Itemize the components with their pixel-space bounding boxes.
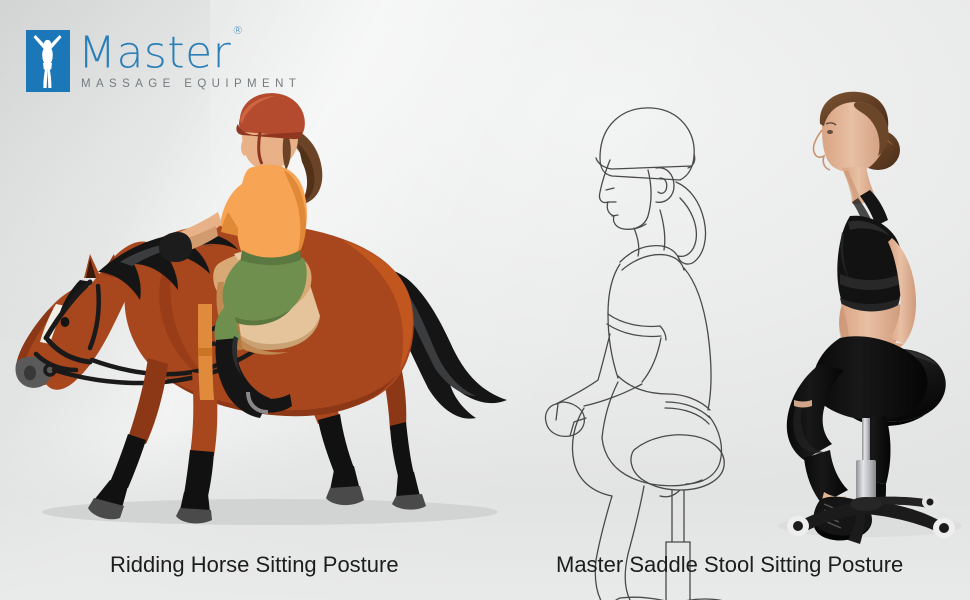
photo-model-on-saddle-stool [770, 88, 970, 548]
line-helmet [596, 108, 695, 180]
line-ponytail [676, 182, 706, 264]
line-sleeve [607, 314, 666, 340]
brand-logo: Master® MASSAGE EQUIPMENT [26, 28, 301, 92]
line-art-rider-on-stool [548, 98, 778, 518]
line-gas-cylinder [666, 490, 690, 600]
line-hips [602, 382, 722, 484]
line-torso [608, 264, 711, 410]
line-waistband [665, 394, 710, 424]
logo-wordmark-text: Master [78, 28, 231, 79]
line-arm [556, 334, 661, 406]
caption-right: Master Saddle Stool Sitting Posture [556, 552, 903, 578]
horse-rider-illustration [2, 92, 522, 532]
line-lower-leg [595, 486, 644, 600]
logo-text-block: Master® MASSAGE EQUIPMENT [78, 28, 301, 90]
logo-tagline: MASSAGE EQUIPMENT [81, 78, 301, 90]
registered-trademark-icon: ® [232, 24, 244, 37]
product-comparison-banner: Master® MASSAGE EQUIPMENT [0, 0, 970, 600]
line-ear [636, 168, 674, 228]
line-collar [620, 210, 684, 270]
line-saddle-seat [631, 435, 724, 497]
standing-figure-icon [26, 30, 70, 92]
line-thigh [572, 408, 702, 496]
caption-left: Ridding Horse Sitting Posture [110, 552, 399, 578]
line-face [599, 160, 646, 229]
line-fist [545, 402, 586, 436]
logo-wordmark: Master® [78, 28, 301, 75]
